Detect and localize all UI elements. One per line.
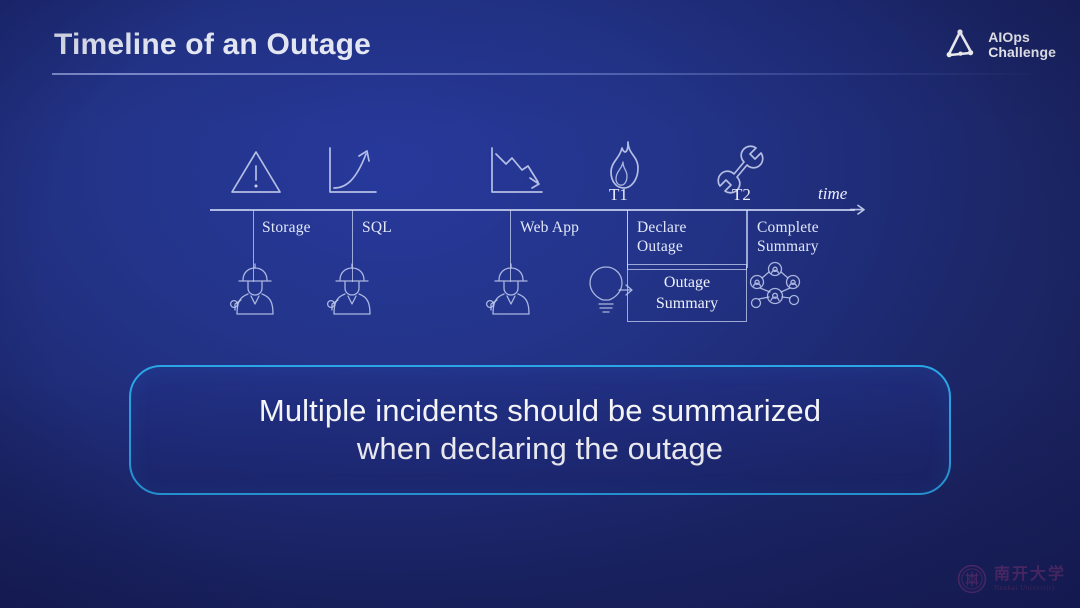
nankai-university-name-cn: 南开大学 [994,566,1066,582]
complete-summary-line2: Summary [757,238,819,255]
aiops-logo-line1: AIOps [988,30,1056,45]
outage-summary-box: OutageSummary [627,264,747,322]
engineer-worker-icon [229,262,279,316]
outage-summary-line2: Summary [656,295,718,312]
timeline-label-complete-summary: Complete Summary [757,218,819,256]
timeline-marker-t1: T1 [609,185,628,205]
callout-box: Multiple incidents should be summarized … [129,365,951,495]
team-network-icon [748,260,802,312]
aiops-triangle-network-icon [941,26,979,64]
outage-summary-line1: Outage [664,274,710,291]
rising-chart-icon [322,144,380,200]
timeline-label-storage: Storage [262,218,311,237]
nankai-university-logo: 南开大学 Nankai University [957,564,1066,594]
declare-outage-box [627,210,747,270]
callout-line-1: Multiple incidents should be summarized [259,392,821,430]
nankai-university-text: 南开大学 Nankai University [994,566,1066,592]
timeline-axis-label: time [818,184,847,204]
timeline-diagram: T1 T2 time Storage SQL Web App Declare O… [200,130,880,330]
title-divider [52,73,1030,75]
timeline-arrow-icon [850,202,866,218]
aiops-challenge-logo: AIOps Challenge [941,26,1056,64]
aiops-logo-line2: Challenge [988,45,1056,60]
falling-chart-icon [486,144,546,200]
callout-line-2: when declaring the outage [357,430,723,468]
nankai-university-seal-icon [957,564,987,594]
slide-root: Timeline of an Outage AIOps Challenge [0,0,1080,608]
timeline-axis [210,209,855,211]
complete-summary-line1: Complete [757,219,819,236]
timeline-label-web-app: Web App [520,218,579,237]
outage-summary-text: OutageSummary [656,272,718,314]
engineer-worker-icon [485,262,535,316]
page-title: Timeline of an Outage [54,28,371,62]
nankai-university-name-en: Nankai University [994,585,1066,592]
lightbulb-idea-icon [581,264,633,316]
warning-triangle-icon [228,146,284,200]
engineer-worker-icon [326,262,376,316]
timeline-label-sql: SQL [362,218,392,237]
timeline-marker-t2: T2 [732,185,751,205]
aiops-logo-text: AIOps Challenge [988,30,1056,60]
